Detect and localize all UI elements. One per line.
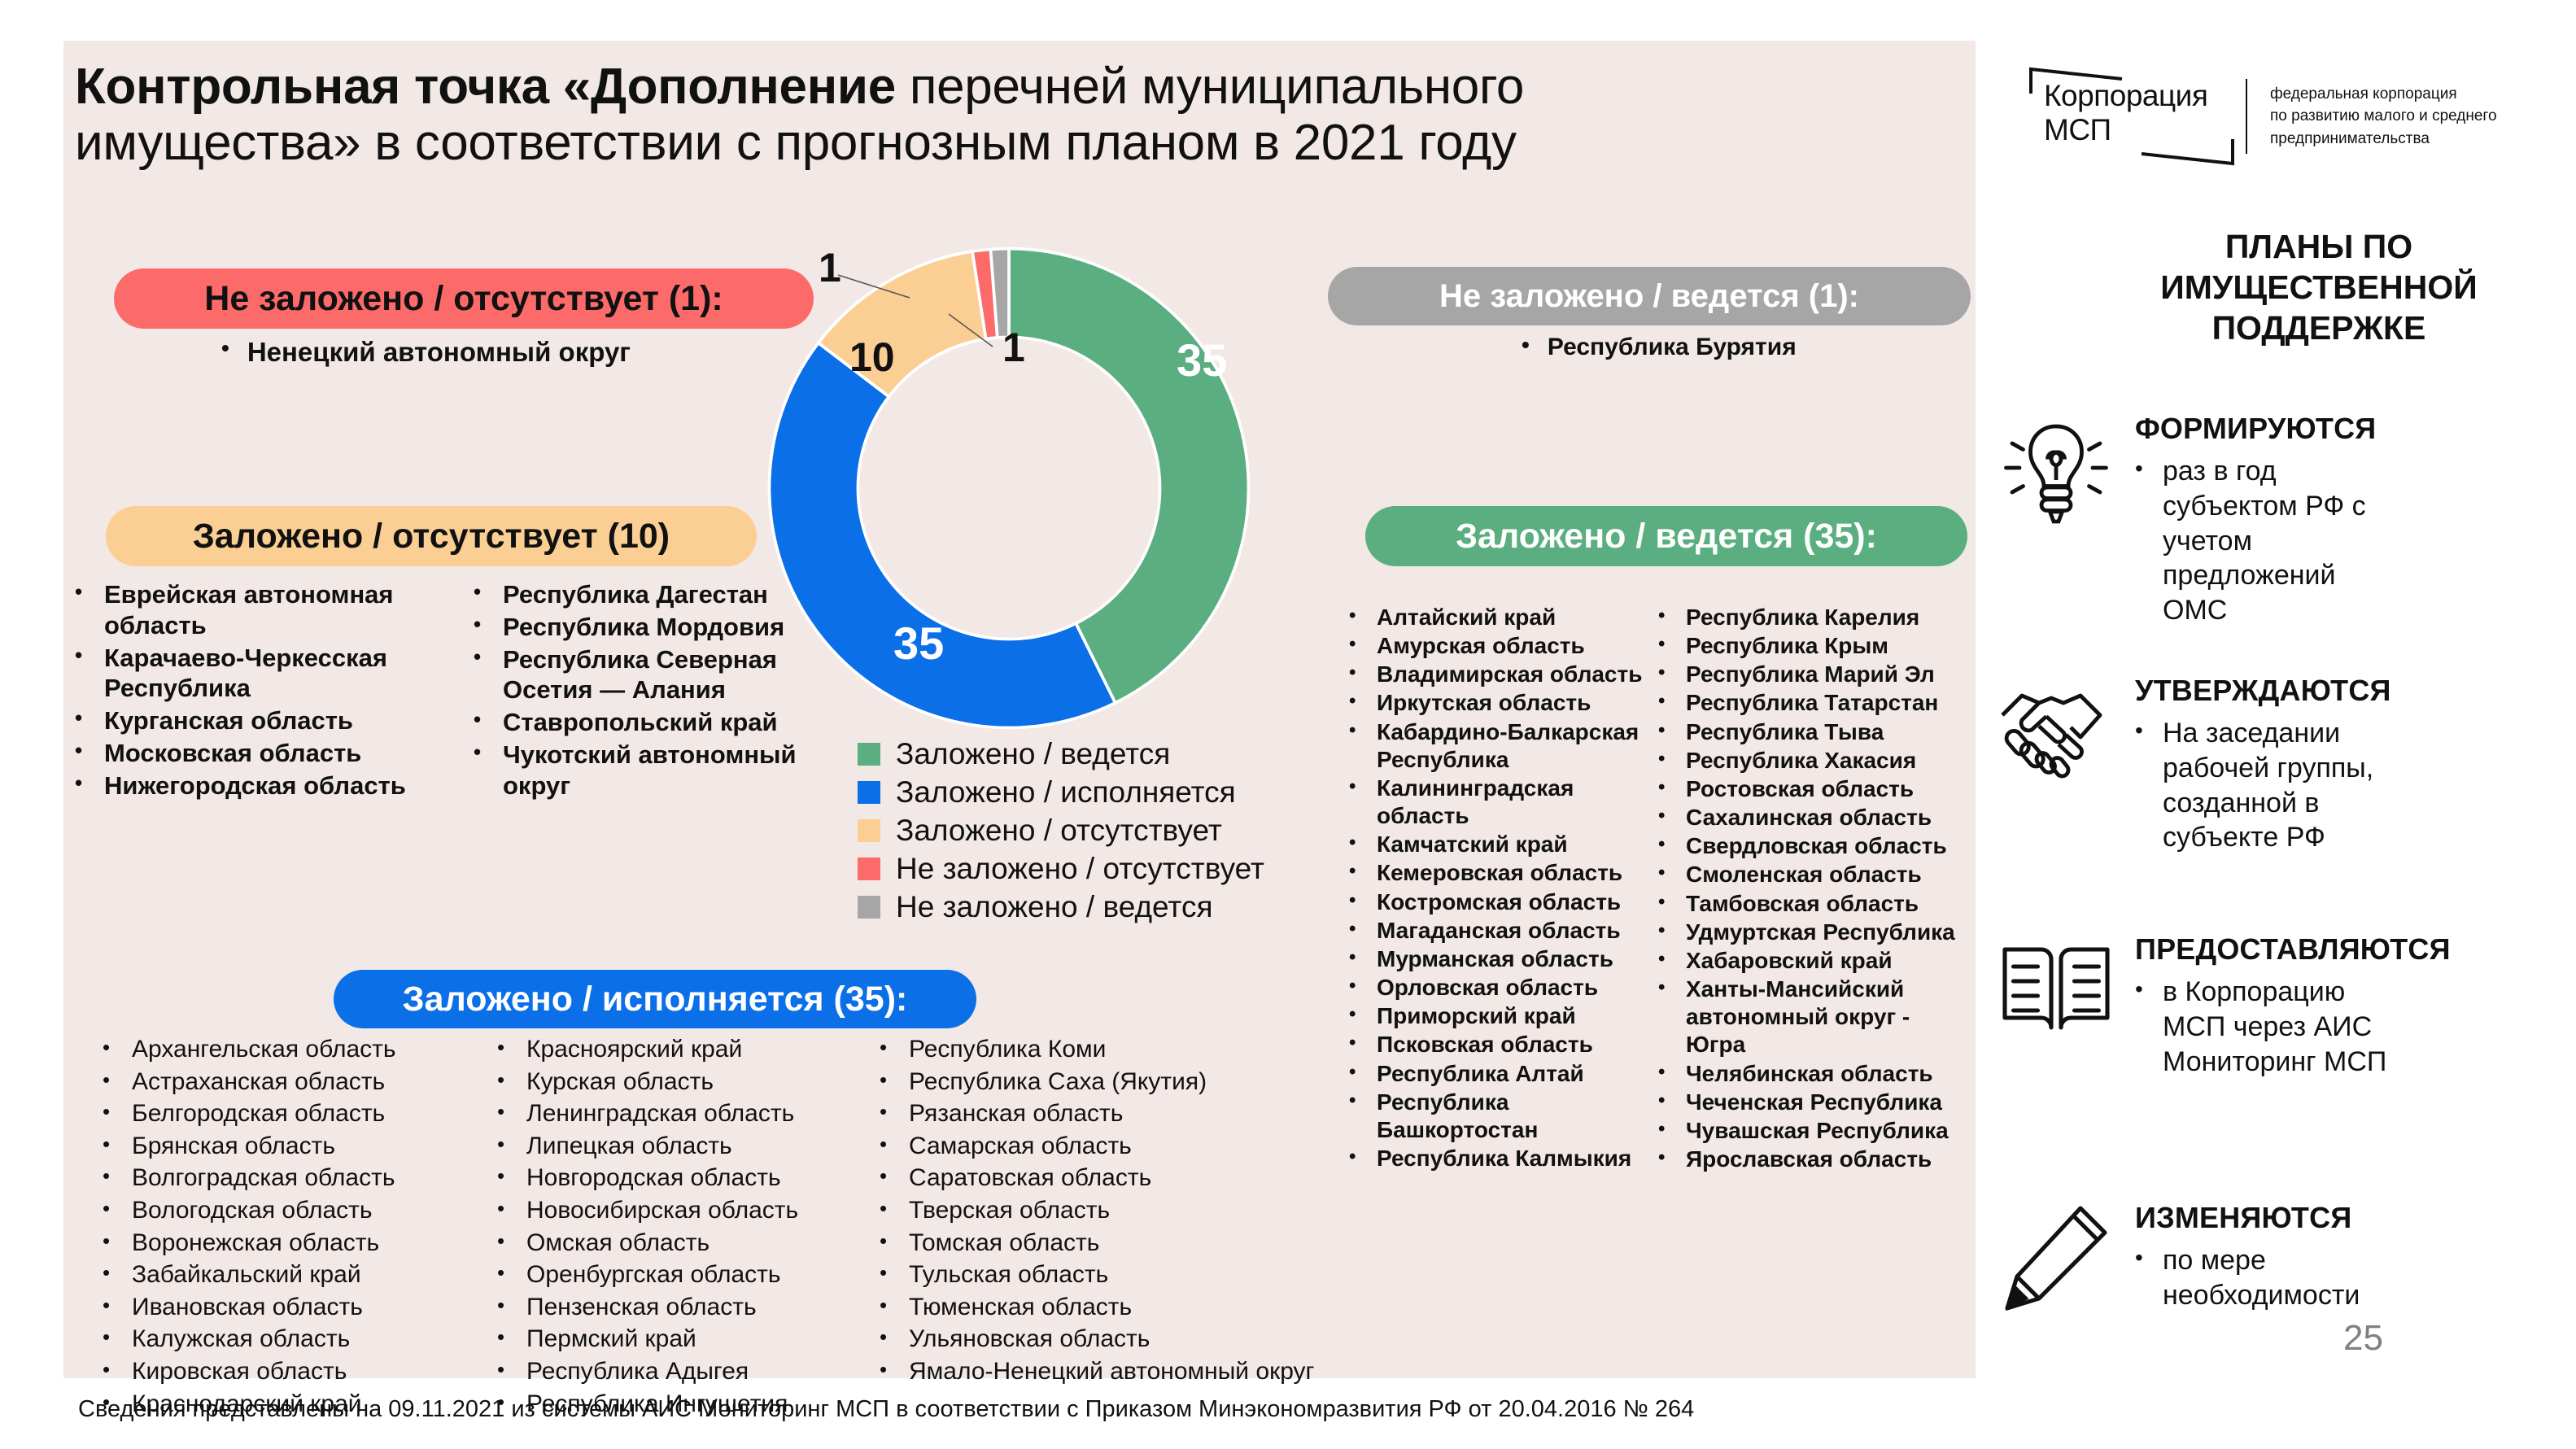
bullet-icon: • <box>1349 1145 1377 1168</box>
list-item: •Новгородская область <box>497 1163 880 1194</box>
list-zalozheno-otsutstvuet: •Еврейская автономная область•Карачаево-… <box>75 579 856 803</box>
sidebar-block-heading: ФОРМИРУЮТСЯ <box>2135 412 2407 446</box>
sidebar-block-heading: ИЗМЕНЯЮТСЯ <box>2135 1201 2407 1235</box>
list-item-label: Томская область <box>909 1229 1099 1259</box>
list-item-label: Саратовская область <box>909 1163 1151 1194</box>
list-item-label: Калининградская область <box>1377 775 1658 830</box>
legend-item: Не заложено / отсутствует <box>858 853 1264 884</box>
legend-swatch-icon <box>858 896 880 919</box>
list-item: •Омская область <box>497 1229 880 1259</box>
list-item-label: Иркутская область <box>1377 689 1591 717</box>
page-title: Контрольная точка «Дополнение перечней м… <box>75 59 1832 172</box>
handshake-icon <box>1995 669 2117 791</box>
list-column: •Красноярский край•Курская область•Ленин… <box>497 1035 880 1421</box>
sidebar-block-item: • На заседании рабочей группы, созданной… <box>2135 716 2407 855</box>
bullet-icon: • <box>880 1196 909 1222</box>
bullet-icon: • <box>1349 859 1377 883</box>
sidebar-title: ПЛАНЫ ПО ИМУЩЕСТВЕННОЙ ПОДДЕРЖКЕ <box>2115 226 2522 348</box>
list-item: •Чукотский автономный округ <box>474 740 856 801</box>
bullet-icon: • <box>880 1325 909 1351</box>
list-item-label: Республика Тыва <box>1686 718 1884 746</box>
bullet-icon: • <box>474 707 503 733</box>
legend-swatch-icon <box>858 743 880 766</box>
list-column: •Алтайский край•Амурская область•Владими… <box>1349 604 1658 1174</box>
list-item: •Тюменская область <box>880 1293 1335 1323</box>
list-item-label: Самарская область <box>909 1132 1132 1162</box>
list-item: •Республика Башкортостан <box>1349 1089 1658 1144</box>
list-item: •Пензенская область <box>497 1293 880 1323</box>
bullet-icon: • <box>1349 1002 1377 1026</box>
list-item: •Республика Хакасия <box>1658 747 1976 775</box>
sidebar-block-item-label: в Корпорацию МСП через АИС Мониторинг МС… <box>2163 975 2407 1079</box>
list-item-label: Пермский край <box>526 1325 696 1355</box>
list-item-label: Республика Северная Осетия — Алания <box>503 644 856 706</box>
list-item-label: Курганская область <box>104 705 353 736</box>
sidebar-block-formiruyutsya: ФОРМИРУЮТСЯ • раз в год субъектом РФ с у… <box>1995 407 2407 628</box>
chart-legend: Заложено / ведетсяЗаложено / исполняется… <box>858 739 1264 930</box>
logo-tagline: федеральная корпорация по развитию малог… <box>2270 83 2497 151</box>
list-item: •Тамбовская область <box>1658 890 1976 918</box>
bullet-icon: • <box>75 738 104 764</box>
bullet-icon: • <box>497 1357 526 1383</box>
list-item-label: Республика Коми <box>909 1035 1106 1065</box>
list-item: •Костромская область <box>1349 888 1658 916</box>
list-item-label: Омская область <box>526 1229 709 1259</box>
bullet-icon: • <box>103 1357 132 1383</box>
list-item-label: Нижегородская область <box>104 770 406 801</box>
list-item-label: Чукотский автономный округ <box>503 740 856 801</box>
page-title-bold: Контрольная точка «Дополнение <box>75 59 896 115</box>
bullet-icon: • <box>1658 947 1686 971</box>
bullet-icon: • <box>103 1163 132 1189</box>
list-item-label: Тверская область <box>909 1196 1110 1226</box>
badge-zalozheno-vedetsya: Заложено / ведется (35): <box>1365 506 1967 566</box>
list-item-label: Брянская область <box>132 1132 335 1162</box>
bullet-icon: • <box>880 1035 909 1061</box>
lightbulb-icon <box>1995 407 2117 529</box>
bullet-icon: • <box>103 1132 132 1158</box>
list-item: •Белгородская область <box>103 1099 497 1129</box>
page-title-regular: перечней муниципального <box>896 59 1524 115</box>
legend-item: Заложено / исполняется <box>858 777 1264 807</box>
list-item-label: Смоленская область <box>1686 861 1922 888</box>
badge-zalozheno-otsutstvuet: Заложено / отсутствует (10) <box>106 506 757 566</box>
list-item: •Алтайский край <box>1349 604 1658 631</box>
legend-label: Заложено / исполняется <box>896 777 1236 807</box>
logo-name-line2: МСП <box>2044 115 2111 146</box>
list-item-label: Республика Татарстан <box>1686 689 1938 717</box>
list-item-label: Хабаровский край <box>1686 947 1893 975</box>
sidebar-block-item-label: по мере необходимости <box>2163 1243 2407 1313</box>
list-item: •Ханты-Мансийский автономный округ - Югр… <box>1658 975 1976 1058</box>
bullet-icon: • <box>103 1325 132 1351</box>
bullet-icon: • <box>103 1196 132 1222</box>
list-item: •Московская область <box>75 738 474 769</box>
list-item: •Воронежская область <box>103 1229 497 1259</box>
bullet-icon: • <box>1658 632 1686 656</box>
bullet-icon: • <box>1349 974 1377 997</box>
list-item-label: Рязанская область <box>909 1099 1123 1129</box>
list-item-label: Архангельская область <box>132 1035 396 1065</box>
list-item: •Камчатский край <box>1349 831 1658 858</box>
list-item: •Архангельская область <box>103 1035 497 1065</box>
bullet-icon: • <box>474 740 503 766</box>
bullet-icon: • <box>1349 831 1377 854</box>
list-item: •Астраханская область <box>103 1067 497 1098</box>
list-item: •Удмуртская Республика <box>1658 919 1976 946</box>
bullet-icon: • <box>497 1229 526 1255</box>
list-item: •Кабардино-Балкарская Республика <box>1349 718 1658 774</box>
list-item-label: Забайкальский край <box>132 1260 361 1290</box>
list-item: •Рязанская область <box>880 1099 1335 1129</box>
page-number: 25 <box>2343 1318 2383 1359</box>
bullet-icon: • <box>1349 718 1377 742</box>
bullet-icon: • <box>2135 716 2163 745</box>
slide-root: Контрольная точка «Дополнение перечней м… <box>0 0 2576 1449</box>
logo-tagline-line1: федеральная корпорация <box>2270 83 2497 106</box>
list-item-label: Республика Дагестан <box>503 579 768 610</box>
list-item-label: Кабардино-Балкарская Республика <box>1377 718 1658 774</box>
bullet-icon: • <box>75 705 104 731</box>
logo-divider <box>2246 79 2247 154</box>
list-item-label: Еврейская автономная область <box>104 579 474 641</box>
sidebar-block-item: • в Корпорацию МСП через АИС Мониторинг … <box>2135 975 2451 1079</box>
pencil-icon <box>1995 1196 2117 1318</box>
list-item: •Курская область <box>497 1067 880 1098</box>
list-item-label: Кемеровская область <box>1377 859 1622 887</box>
list-zalozheno-ispolnyaetsya: •Архангельская область•Астраханская обла… <box>103 1035 1335 1421</box>
logo-mark: Корпорация МСП <box>2026 64 2238 168</box>
list-item-label: Тюменская область <box>909 1293 1132 1323</box>
bullet-icon: • <box>880 1067 909 1093</box>
list-item: •Псковская область <box>1349 1031 1658 1058</box>
list-item-label: Астраханская область <box>132 1067 385 1098</box>
bullet-icon: • <box>1658 1146 1686 1169</box>
list-item-label: Удмуртская Республика <box>1686 919 1955 946</box>
list-item-label: Республика Алтай <box>1377 1060 1584 1088</box>
list-item: •Республика Марий Эл <box>1658 661 1976 688</box>
list-item: •Республика Мордовия <box>474 612 856 643</box>
list-item-label: Республика Калмыкия <box>1377 1145 1631 1172</box>
sidebar-block-predostavlyayutsya: ПРЕДОСТАВЛЯЮТСЯ • в Корпорацию МСП через… <box>1995 927 2451 1079</box>
list-item-label: Амурская область <box>1377 632 1585 660</box>
list-item-label: Республика Карелия <box>1686 604 1919 631</box>
list-item: •Нижегородская область <box>75 770 474 801</box>
list-item: •Мурманская область <box>1349 945 1658 973</box>
list-item: •Оренбургская область <box>497 1260 880 1290</box>
list-item: •Амурская область <box>1349 632 1658 660</box>
list-item: •Республика Дагестан <box>474 579 856 610</box>
list-item: •Республика Алтай <box>1349 1060 1658 1088</box>
legend-item: Заложено / ведется <box>858 739 1264 769</box>
legend-label: Не заложено / отсутствует <box>896 853 1264 884</box>
list-item: •Брянская область <box>103 1132 497 1162</box>
list-item-label: Чувашская Республика <box>1686 1117 1949 1145</box>
bullet-icon: • <box>497 1132 526 1158</box>
page-title-line2: имущества» в соответствии с прогнозным п… <box>75 115 1517 171</box>
bullet-icon: • <box>880 1099 909 1125</box>
list-item-label: Волгоградская область <box>132 1163 395 1194</box>
sidebar-block-item: • раз в год субъектом РФ с учетом предло… <box>2135 454 2407 628</box>
list-item-label: Республика Башкортостан <box>1377 1089 1658 1144</box>
open-book-icon <box>1995 927 2117 1050</box>
list-item: •Республика Тыва <box>1658 718 1976 746</box>
list-item-label: Белгородская область <box>132 1099 385 1129</box>
list-item: •Калужская область <box>103 1325 497 1355</box>
bullet-icon: • <box>1349 604 1377 627</box>
list-item: •Кировская область <box>103 1357 497 1387</box>
list-item: •Томская область <box>880 1229 1335 1259</box>
list-item: •Вологодская область <box>103 1196 497 1226</box>
list-item-label: Ярославская область <box>1686 1146 1932 1173</box>
bullet-icon: • <box>474 644 503 670</box>
list-item: •Ставропольский край <box>474 707 856 738</box>
sidebar-block-body: ПРЕДОСТАВЛЯЮТСЯ • в Корпорацию МСП через… <box>2135 927 2451 1079</box>
bullet-icon: • <box>1658 747 1686 770</box>
list-item-label: Пензенская область <box>526 1293 757 1323</box>
list-item: •Чувашская Республика <box>1658 1117 1976 1145</box>
donut-label-ne-zalozheno-otsutstvuet: 1 <box>819 244 841 291</box>
sidebar-block-body: УТВЕРЖДАЮТСЯ • На заседании рабочей груп… <box>2135 669 2407 855</box>
bullet-icon: • <box>1658 1060 1686 1084</box>
list-item: •Республика Северная Осетия — Алания <box>474 644 856 706</box>
bullet-icon: • <box>1658 861 1686 884</box>
list-item-label: Магаданская область <box>1377 917 1621 945</box>
list-item: •Волгоградская область <box>103 1163 497 1194</box>
list-item: •Калининградская область <box>1349 775 1658 830</box>
bullet-icon: • <box>103 1067 132 1093</box>
list-item-label: Приморский край <box>1377 1002 1576 1030</box>
donut-label-zalozheno-vedetsya: 35 <box>1177 334 1227 386</box>
list-item: •Челябинская область <box>1658 1060 1976 1088</box>
list-item-label: Красноярский край <box>526 1035 742 1065</box>
list-item: •Ленинградская область <box>497 1099 880 1129</box>
list-item-label: Новосибирская область <box>526 1196 798 1226</box>
legend-swatch-icon <box>858 819 880 842</box>
list-item: •Смоленская область <box>1658 861 1976 888</box>
bullet-icon: • <box>1658 804 1686 827</box>
bullet-icon: • <box>880 1132 909 1158</box>
list-item: •Самарская область <box>880 1132 1335 1162</box>
bullet-icon: • <box>103 1293 132 1319</box>
bullet-icon: • <box>1349 661 1377 684</box>
list-item: •Республика Коми <box>880 1035 1335 1065</box>
list-item-label: Мурманская область <box>1377 945 1613 973</box>
bullet-icon: • <box>1658 604 1686 627</box>
list-item-label: Ставропольский край <box>503 707 778 738</box>
list-column: •Республика Дагестан•Республика Мордовия… <box>474 579 856 803</box>
bullet-icon: • <box>1349 632 1377 656</box>
list-item-label: Калужская область <box>132 1325 350 1355</box>
list-item: •Хабаровский край <box>1658 947 1976 975</box>
list-item: •Пермский край <box>497 1325 880 1355</box>
bullet-icon: • <box>103 1035 132 1061</box>
list-item: •Республика Татарстан <box>1658 689 1976 717</box>
list-column: •Республика Коми•Республика Саха (Якутия… <box>880 1035 1335 1421</box>
bullet-icon: • <box>1349 1060 1377 1084</box>
bullet-icon: • <box>880 1293 909 1319</box>
list-item: • Ненецкий автономный округ <box>221 337 631 368</box>
bullet-icon: • <box>497 1196 526 1222</box>
bullet-icon: • <box>474 612 503 638</box>
bullet-icon: • <box>880 1357 909 1383</box>
bullet-icon: • <box>880 1260 909 1286</box>
list-item: •Карачаево-Черкесская Республика <box>75 643 474 705</box>
logo-tagline-line2: по развитию малого и среднего <box>2270 105 2497 128</box>
bullet-icon: • <box>880 1163 909 1189</box>
list-item: •Новосибирская область <box>497 1196 880 1226</box>
list-item-label: Камчатский край <box>1377 831 1568 858</box>
list-item-label: Ленинградская область <box>526 1099 794 1129</box>
list-item-label: Республика Адыгея <box>526 1357 749 1387</box>
list-item: •Курганская область <box>75 705 474 736</box>
badge-ne-zalozheno-vedetsya: Не заложено / ведется (1): <box>1328 267 1971 325</box>
list-item-label: Алтайский край <box>1377 604 1556 631</box>
list-item-label: Челябинская область <box>1686 1060 1933 1088</box>
list-item: •Саратовская область <box>880 1163 1335 1194</box>
list-item-label: Ульяновская область <box>909 1325 1150 1355</box>
list-item: •Тверская область <box>880 1196 1335 1226</box>
bullet-icon: • <box>1349 775 1377 798</box>
list-item: •Сахалинская область <box>1658 804 1976 831</box>
list-item: •Кемеровская область <box>1349 859 1658 887</box>
list-item-label: Ямало-Ненецкий автономный округ <box>909 1357 1315 1387</box>
bullet-icon: • <box>497 1325 526 1351</box>
badge-ne-zalozheno-otsutstvuet: Не заложено / отсутствует (1): <box>114 268 814 329</box>
bullet-icon: • <box>1658 975 1686 999</box>
sidebar-block-item: • по мере необходимости <box>2135 1243 2407 1313</box>
bullet-icon: • <box>103 1099 132 1125</box>
list-item-label: Костромская область <box>1377 888 1621 916</box>
list-item-label: Республика Марий Эл <box>1686 661 1935 688</box>
bullet-icon: • <box>497 1293 526 1319</box>
legend-item: Заложено / отсутствует <box>858 815 1264 845</box>
bullet-icon: • <box>75 770 104 797</box>
sidebar-block-item-label: На заседании рабочей группы, созданной в… <box>2163 716 2407 855</box>
list-item-label: Ивановская область <box>132 1293 363 1323</box>
bullet-icon: • <box>497 1260 526 1286</box>
sidebar-block-body: ИЗМЕНЯЮТСЯ • по мере необходимости <box>2135 1196 2407 1313</box>
list-item-label: Карачаево-Черкесская Республика <box>104 643 474 705</box>
bullet-icon: • <box>1349 945 1377 969</box>
bullet-icon: • <box>497 1035 526 1061</box>
list-item-label: Свердловская область <box>1686 832 1947 860</box>
bullet-icon: • <box>497 1067 526 1093</box>
list-item: •Республика Калмыкия <box>1349 1145 1658 1172</box>
bullet-icon: • <box>1658 832 1686 856</box>
list-item: •Орловская область <box>1349 974 1658 1002</box>
list-item: •Республика Карелия <box>1658 604 1976 631</box>
list-item: •Липецкая область <box>497 1132 880 1162</box>
bullet-icon: • <box>497 1099 526 1125</box>
list-item-label: Ростовская область <box>1686 775 1914 803</box>
bullet-icon: • <box>221 337 229 368</box>
bullet-icon: • <box>75 579 104 605</box>
bullet-icon: • <box>1658 1117 1686 1141</box>
bullet-icon: • <box>880 1229 909 1255</box>
list-item-label: Курская область <box>526 1067 714 1098</box>
list-column: •Архангельская область•Астраханская обла… <box>103 1035 497 1421</box>
list-item-label: Ненецкий автономный округ <box>247 337 631 368</box>
list-item: •Забайкальский край <box>103 1260 497 1290</box>
bullet-icon: • <box>1658 919 1686 942</box>
sidebar-block-item-label: раз в год субъектом РФ с учетом предложе… <box>2163 454 2407 628</box>
list-item-label: Республика Саха (Якутия) <box>909 1067 1207 1098</box>
list-item-label: Воронежская область <box>132 1229 379 1259</box>
donut-label-ne-zalozheno-vedetsya: 1 <box>1002 324 1025 371</box>
bullet-icon: • <box>1658 661 1686 684</box>
list-item: •Ростовская область <box>1658 775 1976 803</box>
bullet-icon: • <box>2135 454 2163 483</box>
legend-item: Не заложено / ведется <box>858 892 1264 922</box>
list-column: •Республика Карелия•Республика Крым•Респ… <box>1658 604 1976 1174</box>
bullet-icon: • <box>1658 718 1686 742</box>
legend-swatch-icon <box>858 781 880 804</box>
list-item-label: Тульская область <box>909 1260 1108 1290</box>
list-item: •Приморский край <box>1349 1002 1658 1030</box>
list-item-label: Тамбовская область <box>1686 890 1919 918</box>
list-item-label: Орловская область <box>1377 974 1598 1002</box>
bullet-icon: • <box>1658 890 1686 914</box>
bullet-icon: • <box>1658 1089 1686 1112</box>
donut-label-zalozheno-ispolnyaetsya: 35 <box>893 617 944 670</box>
list-column: •Еврейская автономная область•Карачаево-… <box>75 579 474 803</box>
list-item: •Ямало-Ненецкий автономный округ <box>880 1357 1335 1387</box>
sidebar-block-heading: УТВЕРЖДАЮТСЯ <box>2135 674 2407 708</box>
bullet-icon: • <box>474 579 503 605</box>
list-item-label: Сахалинская область <box>1686 804 1932 831</box>
list-item: • Республика Бурятия <box>1522 334 1797 361</box>
sidebar-block-heading: ПРЕДОСТАВЛЯЮТСЯ <box>2135 932 2451 967</box>
bullet-icon: • <box>1658 689 1686 713</box>
sidebar-block-body: ФОРМИРУЮТСЯ • раз в год субъектом РФ с у… <box>2135 407 2407 628</box>
sidebar-block-utverzhdayutsya: УТВЕРЖДАЮТСЯ • На заседании рабочей груп… <box>1995 669 2407 855</box>
list-item-label: Ханты-Мансийский автономный округ - Югра <box>1686 975 1976 1058</box>
list-item-label: Оренбургская область <box>526 1260 781 1290</box>
list-item: •Владимирская область <box>1349 661 1658 688</box>
list-item-label: Владимирская область <box>1377 661 1642 688</box>
legend-swatch-icon <box>858 858 880 880</box>
bullet-icon: • <box>1658 775 1686 799</box>
list-item-label: Кировская область <box>132 1357 347 1387</box>
list-item-label: Республика Хакасия <box>1686 747 1916 775</box>
list-item: •Ярославская область <box>1658 1146 1976 1173</box>
list-item-label: Чеченская Республика <box>1686 1089 1942 1116</box>
list-item-label: Липецкая область <box>526 1132 732 1162</box>
bullet-icon: • <box>1349 1089 1377 1112</box>
sidebar-block-izmenyayutsya: ИЗМЕНЯЮТСЯ • по мере необходимости <box>1995 1196 2407 1318</box>
list-item-label: Московская область <box>104 738 361 769</box>
list-item: •Еврейская автономная область <box>75 579 474 641</box>
list-item: •Республика Адыгея <box>497 1357 880 1387</box>
bullet-icon: • <box>1349 1031 1377 1054</box>
bullet-icon: • <box>1522 334 1530 361</box>
legend-label: Заложено / ведется <box>896 739 1170 769</box>
donut-label-zalozheno-otsutstvuet: 10 <box>849 334 895 381</box>
corporate-logo: Корпорация МСП федеральная корпорация по… <box>2026 63 2530 169</box>
bullet-icon: • <box>103 1260 132 1286</box>
list-item: •Красноярский край <box>497 1035 880 1065</box>
list-item: •Магаданская область <box>1349 917 1658 945</box>
bullet-icon: • <box>2135 975 2163 1004</box>
list-item: •Тульская область <box>880 1260 1335 1290</box>
list-item: •Ульяновская область <box>880 1325 1335 1355</box>
bullet-icon: • <box>1349 689 1377 713</box>
list-item-label: Республика Крым <box>1686 632 1888 660</box>
list-item: •Иркутская область <box>1349 689 1658 717</box>
logo-name-line1: Корпорация <box>2044 81 2207 111</box>
list-item: •Республика Саха (Якутия) <box>880 1067 1335 1098</box>
